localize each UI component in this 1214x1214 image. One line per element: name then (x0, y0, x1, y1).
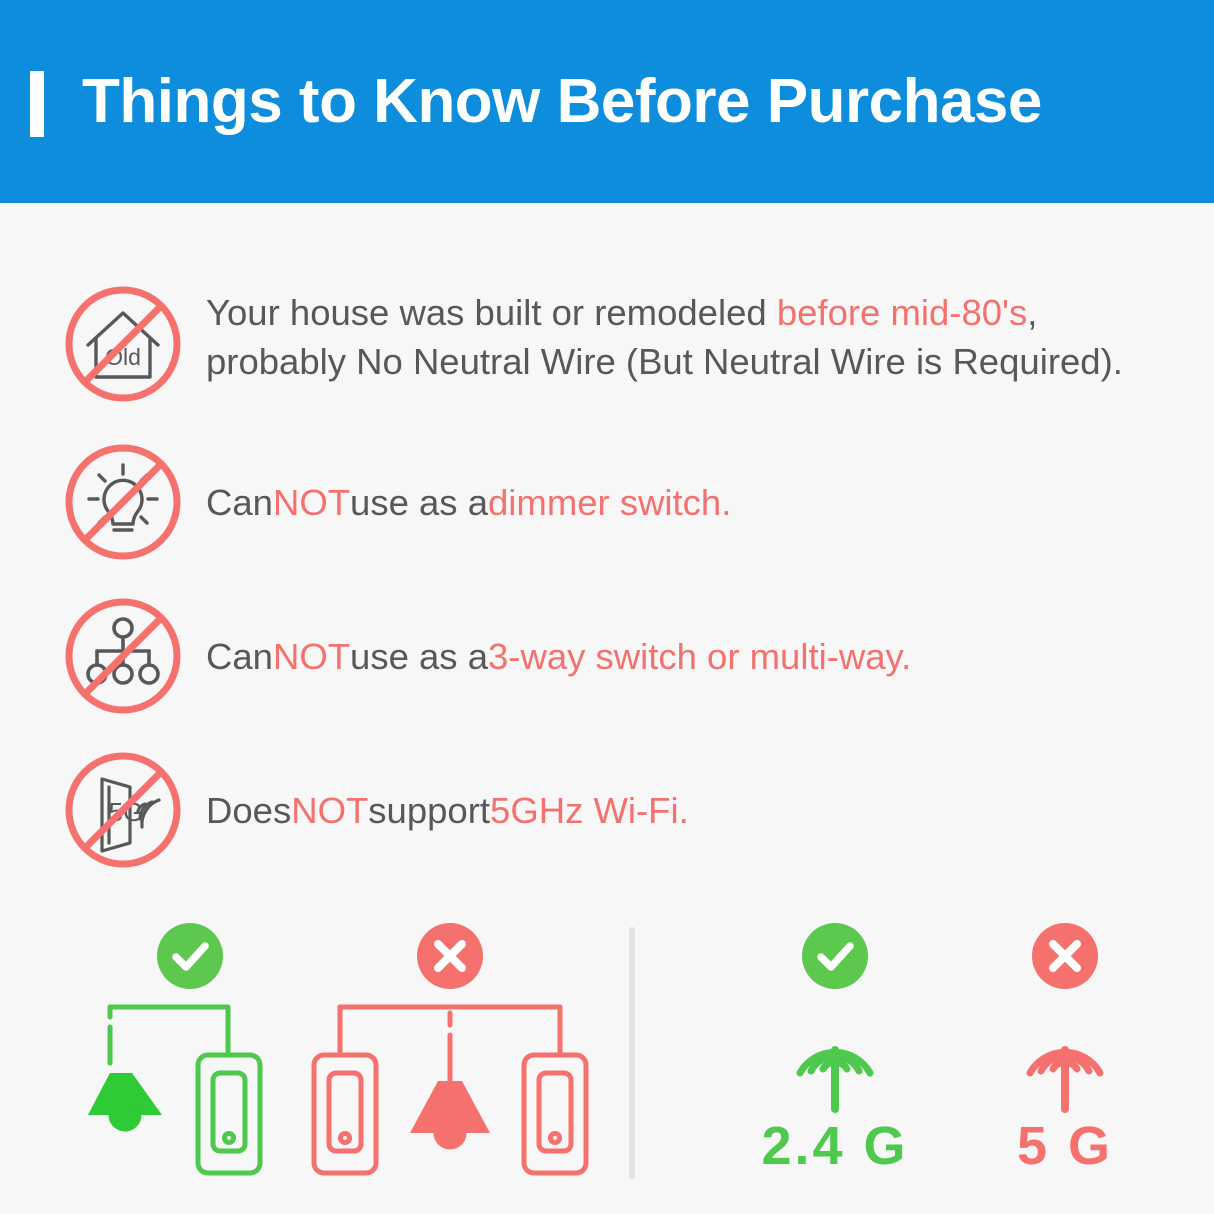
no-three-way-tree-icon (62, 595, 184, 717)
text-segment-highlight: dimmer switch. (488, 478, 731, 527)
comparison-panel: 2.4 G 5 G (0, 905, 1214, 1214)
wifi-band-label-24g: 2.4 G (761, 1119, 908, 1173)
text-segment: Your house was built or remodeled (206, 292, 777, 333)
text-segment-highlight: before mid-80's (777, 292, 1027, 333)
single-switch-lamp-diagram (80, 993, 300, 1198)
wifi-band-comparison: 2.4 G 5 G (635, 905, 1214, 1214)
warning-list: Old Your house was built or remodeled be… (0, 203, 1214, 871)
cross-badge (1032, 923, 1098, 994)
no-5ghz-phone-icon: 5G (62, 749, 184, 871)
switch-wiring-comparison (0, 905, 629, 1214)
header-bar-marker-icon (30, 71, 44, 137)
list-item: Can NOT use as a dimmer switch. (0, 441, 1214, 563)
cross-badge (417, 923, 483, 994)
list-item: Old Your house was built or remodeled be… (0, 283, 1214, 405)
text-segment-highlight: NOT (273, 632, 350, 681)
figure-multi-switch (300, 923, 600, 1193)
list-item-text: Your house was built or remodeled before… (184, 283, 1214, 386)
text-segment-highlight: NOT (273, 478, 350, 527)
text-segment-highlight: NOT (291, 786, 368, 835)
list-item: Can NOT use as a 3-way switch or multi-w… (0, 595, 1214, 717)
list-item: 5G Does NOT support 5GHz Wi-Fi. (0, 749, 1214, 871)
text-segment: support (368, 786, 490, 835)
text-segment: Does (206, 786, 291, 835)
list-item-text: Can NOT use as a dimmer switch. (184, 441, 1214, 563)
figure-wifi-24g: 2.4 G (695, 923, 975, 1213)
text-segment-highlight: 5GHz Wi-Fi. (490, 786, 689, 835)
header-banner: Things to Know Before Purchase (0, 0, 1214, 203)
multi-switch-lamp-diagram (310, 993, 590, 1198)
wifi-antenna-icon (1005, 1005, 1125, 1120)
text-segment: use as a (350, 632, 488, 681)
text-segment: use as a (350, 478, 488, 527)
no-old-house-icon: Old (62, 283, 184, 405)
check-badge (157, 923, 223, 994)
figure-wifi-5g: 5 G (935, 923, 1195, 1213)
list-item-text: Can NOT use as a 3-way switch or multi-w… (184, 595, 1214, 717)
wifi-band-label-5g: 5 G (1017, 1119, 1113, 1173)
figure-single-switch (60, 923, 320, 1193)
text-segment: Can (206, 478, 273, 527)
text-segment: Can (206, 632, 273, 681)
check-badge (802, 923, 868, 994)
list-item-text: Does NOT support 5GHz Wi-Fi. (184, 749, 1214, 871)
no-dimmer-bulb-icon (62, 441, 184, 563)
wifi-antenna-icon (775, 1005, 895, 1120)
text-segment-highlight: 3-way switch or multi-way. (488, 632, 911, 681)
page-title: Things to Know Before Purchase (82, 71, 1042, 133)
